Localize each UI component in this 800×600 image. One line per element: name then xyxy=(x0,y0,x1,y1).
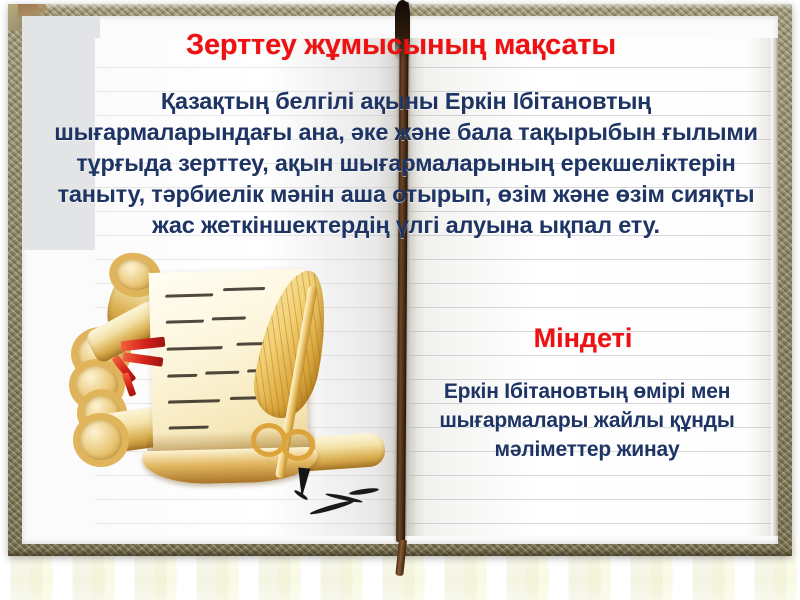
tasks-body-text: Еркін Ібітановтың өмірі мен шығармалары … xyxy=(398,378,776,465)
text-layer: Зерттеу жұмысының мақсаты Қазақтың белгі… xyxy=(0,0,800,600)
slide-canvas: Зерттеу жұмысының мақсаты Қазақтың белгі… xyxy=(0,0,800,600)
tasks-heading: Міндеті xyxy=(403,322,763,354)
goal-heading: Зерттеу жұмысының мақсаты xyxy=(186,28,616,64)
goal-body-text: Қазақтың белгілі ақыны Еркін Ібітановтың… xyxy=(50,86,762,240)
